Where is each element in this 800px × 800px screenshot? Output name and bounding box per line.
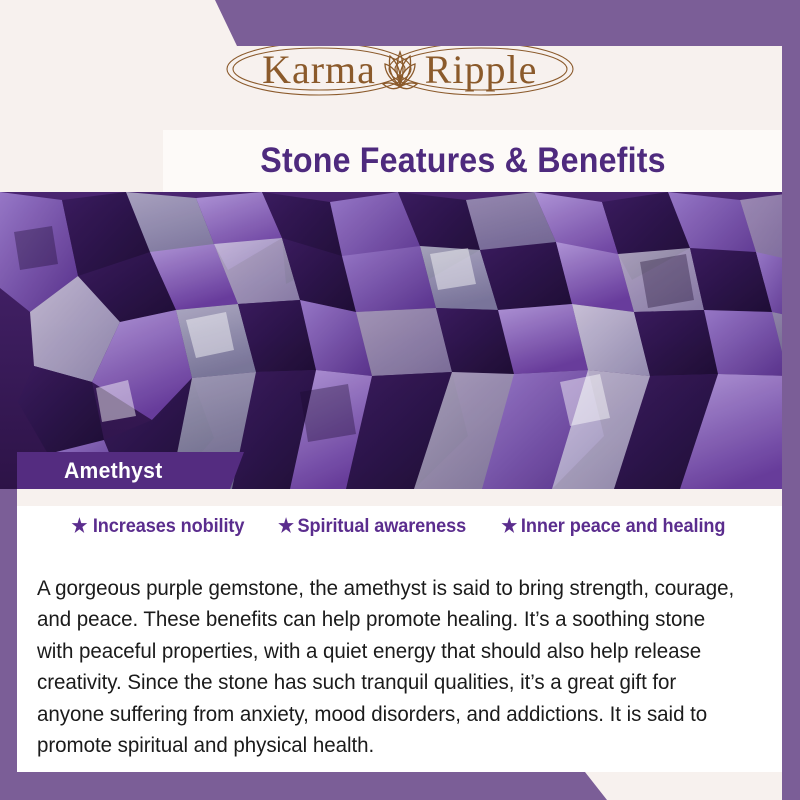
- brand-name-left: Karma: [262, 47, 376, 92]
- frame-left-band-upper: [0, 489, 17, 729]
- star-icon: ★: [502, 517, 518, 536]
- frame-right-band: [782, 0, 800, 800]
- star-icon: ★: [72, 517, 88, 536]
- star-icon: ★: [278, 517, 294, 536]
- title-band: Stone Features & Benefits: [0, 130, 800, 192]
- content-panel: ★ Increases nobility ★ Spiritual awarene…: [17, 489, 782, 772]
- stone-description: A gorgeous purple gemstone, the amethyst…: [37, 573, 744, 763]
- panel-top-tint: [17, 489, 782, 506]
- frame-bottom-band: [0, 772, 800, 800]
- page-title: Stone Features & Benefits: [187, 130, 739, 192]
- amethyst-hero-image: [0, 192, 800, 489]
- benefit-item: ★ Increases nobility: [72, 515, 245, 538]
- benefit-label: Increases nobility: [93, 515, 245, 538]
- lotus-icon: [383, 52, 417, 89]
- benefit-item: ★ Inner peace and healing: [502, 515, 726, 538]
- brand-name-right: Ripple: [425, 47, 538, 92]
- benefit-label: Inner peace and healing: [521, 515, 725, 538]
- benefits-list: ★ Increases nobility ★ Spiritual awarene…: [17, 515, 782, 538]
- benefit-item: ★ Spiritual awareness: [278, 515, 466, 538]
- stone-name-banner: Amethyst: [17, 452, 244, 489]
- crystal-texture: [0, 192, 800, 489]
- benefit-label: Spiritual awareness: [297, 515, 466, 538]
- product-info-card: Karma Ripple Stone Features & Benefits: [0, 0, 800, 800]
- stone-name-label: Amethyst: [64, 458, 163, 484]
